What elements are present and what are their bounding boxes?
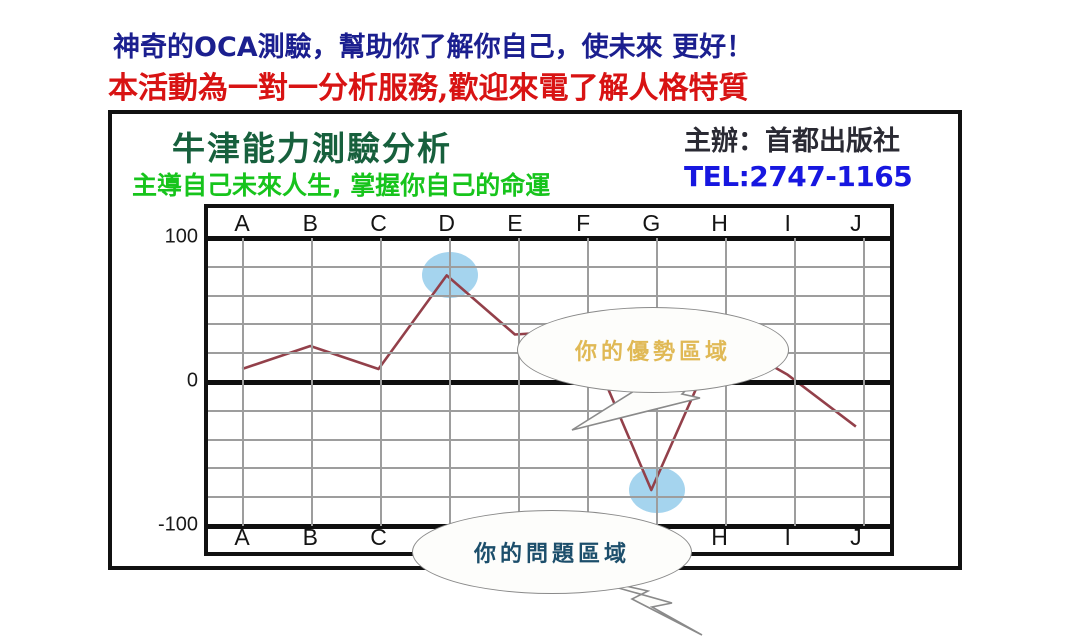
x-axis-tick-label: I xyxy=(754,208,822,238)
vertical-gridline xyxy=(863,238,865,526)
vertical-gridline xyxy=(449,238,451,526)
vertical-gridline xyxy=(311,238,313,526)
y-axis-tick-label: -100 xyxy=(158,514,198,537)
x-axis-tick-label: F xyxy=(549,208,617,238)
vertical-gridline xyxy=(518,238,520,526)
vertical-gridline xyxy=(242,238,244,526)
oca-poster-card: 牛津能力測驗分析 主導自己未來人生, 掌握你自己的命運 主辦：首都出版社 TEL… xyxy=(108,110,962,570)
card-title: 牛津能力測驗分析 xyxy=(172,122,452,170)
x-axis-tick-label: E xyxy=(481,208,549,238)
x-axis-tick-label: J xyxy=(822,522,890,552)
y-axis-tick-label: 100 xyxy=(165,226,198,249)
problem-callout-bubble: 你的問題區域 xyxy=(412,510,692,594)
x-axis-tick-label: B xyxy=(276,522,344,552)
x-axis-tick-label: J xyxy=(822,208,890,238)
problem-callout-text: 你的問題區域 xyxy=(474,536,630,568)
y-axis-labels: 100 0 -100 xyxy=(142,204,202,556)
x-axis-tick-label: A xyxy=(208,208,276,238)
card-subtitle: 主導自己未來人生, 掌握你自己的命運 xyxy=(132,166,550,202)
x-axis-tick-label: H xyxy=(685,208,753,238)
vertical-gridline xyxy=(794,238,796,526)
x-axis-tick-label: I xyxy=(754,522,822,552)
promo-headline-block: 神奇的OCA測驗，幫助你了解你自己，使未來 更好！ 本活動為一對一分析服務,歡迎… xyxy=(0,0,1080,108)
organizer-label: 主辦：首都出版社 xyxy=(684,119,900,158)
strength-callout-bubble: 你的優勢區域 xyxy=(517,307,789,393)
telephone-label: TEL:2747-1165 xyxy=(684,160,912,193)
x-axis-tick-label: C xyxy=(344,522,412,552)
x-axis-labels-top: ABCDEFGHIJ xyxy=(208,208,890,238)
promo-headline-primary: 神奇的OCA測驗，幫助你了解你自己，使未來 更好！ xyxy=(113,25,753,64)
vertical-gridline xyxy=(380,238,382,526)
strength-callout-text: 你的優勢區域 xyxy=(575,334,731,366)
oca-chart: 100 0 -100 ABCDEFGHIJ ABCDEFGHIJ xyxy=(142,204,894,556)
x-axis-tick-label: A xyxy=(208,522,276,552)
y-axis-tick-label: 0 xyxy=(187,370,198,393)
x-axis-tick-label: B xyxy=(276,208,344,238)
x-axis-tick-label: C xyxy=(344,208,412,238)
promo-headline-secondary: 本活動為一對一分析服務,歡迎來電了解人格特質 xyxy=(108,63,748,107)
x-axis-tick-label: G xyxy=(617,208,685,238)
x-axis-tick-label: H xyxy=(685,522,753,552)
x-axis-tick-label: D xyxy=(413,208,481,238)
